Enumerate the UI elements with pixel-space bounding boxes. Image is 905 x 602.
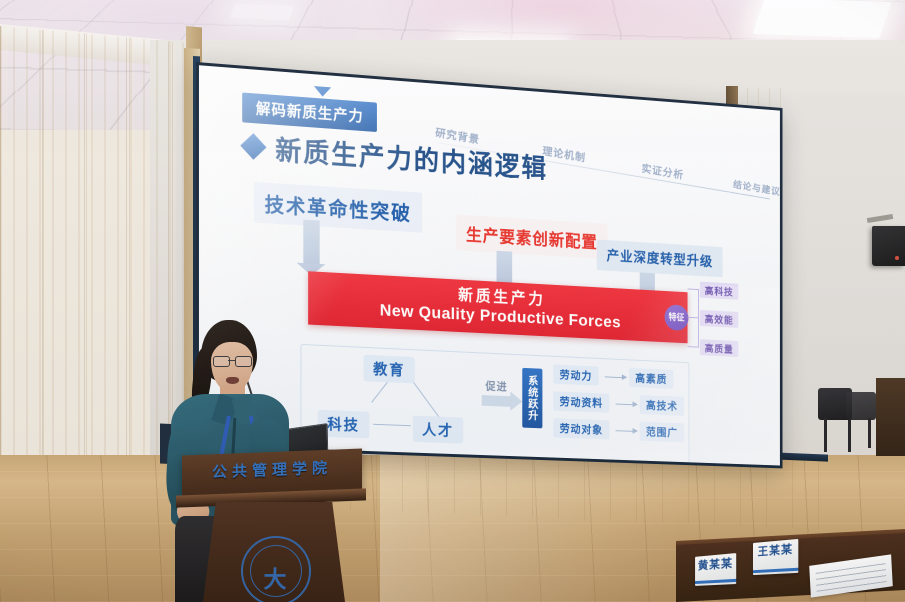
name-placard: 王某某 <box>753 539 798 575</box>
driver-box-factor-allocation: 生产要素创新配置 <box>456 214 608 259</box>
chair-leg <box>848 420 851 452</box>
name-placard-accent-bar <box>753 568 798 573</box>
upgrade-arrow-icon <box>616 430 634 432</box>
upgrade-arrow-icon <box>605 376 623 378</box>
nav-tab-conclusions: 结论与建议 <box>733 176 780 198</box>
system-upgrade-box: 系统跃升 <box>522 368 542 428</box>
diamond-bullet-icon <box>240 133 266 160</box>
ceiling-light-panel <box>230 4 294 20</box>
speaker-status-led <box>895 256 899 260</box>
upgrade-to-label: 高技术 <box>640 395 684 416</box>
chair <box>846 392 876 420</box>
chair-leg <box>868 418 871 448</box>
triangle-node-talent: 人才 <box>413 416 463 444</box>
podium-school-name: 公共管理学院 <box>182 456 362 484</box>
wall-mounted-speaker <box>872 226 905 266</box>
slide-heading-text: 新质生产力的内涵逻辑 <box>275 129 548 186</box>
upgrade-to-label: 范围广 <box>640 422 684 443</box>
conference-room-photo: 解码新质生产力 研究背景 理论机制 实证分析 结论与建议 新质生产力的内涵逻辑 … <box>0 0 905 602</box>
upgrade-from-label: 劳动资料 <box>553 391 609 412</box>
university-emblem-mark: 大 <box>248 560 300 598</box>
ceiling-light-panel <box>753 0 892 38</box>
down-arrow-icon <box>303 220 319 265</box>
promote-arrow-icon <box>482 395 511 407</box>
nav-tab-empirical-analysis: 实证分析 <box>641 160 685 182</box>
feature-badge-highquality: 高质量 <box>700 339 738 357</box>
upgrade-from-label: 劳动力 <box>553 364 598 385</box>
name-placard-text: 王某某 <box>753 544 798 559</box>
presenter-face <box>211 342 253 392</box>
feature-badge-highefficiency: 高效能 <box>700 310 738 328</box>
main-concept-banner: 新质生产力 New Quality Productive Forces <box>308 271 687 343</box>
upgrade-arrow-icon <box>616 403 634 405</box>
paper-text-lines <box>815 560 886 592</box>
feature-connector-line <box>688 346 699 348</box>
upgrade-to-label: 高素质 <box>629 368 673 389</box>
feature-connector-line <box>688 317 699 319</box>
side-cabinet <box>876 378 905 456</box>
feature-badge-hightech: 高科技 <box>700 282 738 300</box>
feature-connector-line <box>688 288 699 290</box>
driver-box-tech-breakthrough: 技术革命性突破 <box>254 182 422 233</box>
kicker-caret-icon <box>314 86 331 97</box>
chair-leg <box>824 418 827 452</box>
triangle-node-education: 教育 <box>364 355 415 384</box>
name-placard: 黄某某 <box>695 553 736 586</box>
name-placard-text: 黄某某 <box>695 558 736 573</box>
promote-label: 促进 <box>485 378 507 394</box>
slide-kicker-badge: 解码新质生产力 <box>242 92 377 132</box>
presenter-mouth <box>226 377 239 384</box>
feature-hub-circle: 特征 <box>665 304 689 331</box>
name-placard-accent-bar <box>695 579 736 584</box>
slide-heading: 新质生产力的内涵逻辑 <box>244 126 548 185</box>
upgrade-from-label: 劳动对象 <box>553 418 609 439</box>
driver-box-industry-upgrade: 产业深度转型升级 <box>597 239 723 277</box>
glasses-bridge <box>228 360 235 361</box>
